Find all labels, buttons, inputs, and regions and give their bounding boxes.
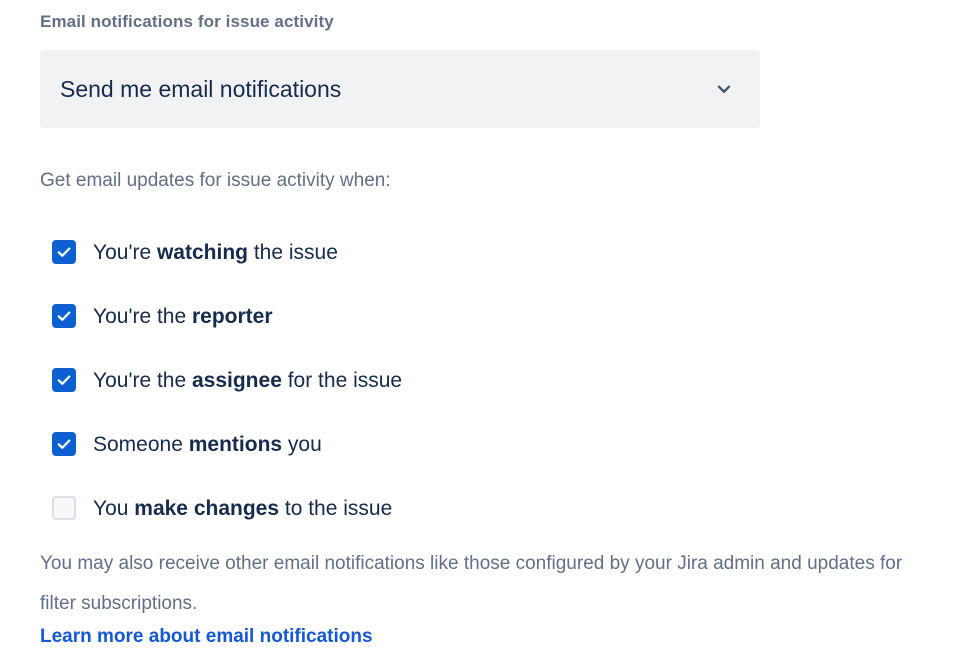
checkbox-checked[interactable] <box>52 368 76 392</box>
notification-triggers-list: You're watching the issueYou're the repo… <box>40 220 920 540</box>
checkbox-checked[interactable] <box>52 240 76 264</box>
checkbox-label: You're the reporter <box>93 306 273 327</box>
check-icon <box>55 243 73 261</box>
checkbox-row[interactable]: You make changes to the issue <box>40 476 920 540</box>
email-notifications-settings-panel: Email notifications for issue activity S… <box>0 0 964 658</box>
check-icon <box>55 371 73 389</box>
checkbox-row[interactable]: You're watching the issue <box>40 220 920 284</box>
checkbox-label-prefix: You're the <box>93 305 192 328</box>
checkbox-label-prefix: Someone <box>93 433 189 456</box>
email-notifications-select[interactable]: Send me email notifications <box>40 50 760 128</box>
checkbox-label: You're the assignee for the issue <box>93 370 402 391</box>
chevron-down-icon[interactable] <box>712 77 736 101</box>
checkbox-row[interactable]: You're the reporter <box>40 284 920 348</box>
page-title: Email notifications for issue activity <box>40 12 334 32</box>
helper-text: Get email updates for issue activity whe… <box>40 170 391 192</box>
checkbox-row[interactable]: You're the assignee for the issue <box>40 348 920 412</box>
footer-note: You may also receive other email notific… <box>40 544 942 624</box>
checkbox-label-suffix: for the issue <box>282 369 402 392</box>
checkbox-label: Someone mentions you <box>93 434 322 455</box>
checkbox-label-emphasis: mentions <box>189 433 282 456</box>
checkbox-label-suffix: you <box>282 433 322 456</box>
checkbox-label-emphasis: reporter <box>192 305 273 328</box>
checkbox-label-suffix: the issue <box>248 241 338 264</box>
checkbox-unchecked[interactable] <box>52 496 76 520</box>
checkbox-label-prefix: You're the <box>93 369 192 392</box>
checkbox-row[interactable]: Someone mentions you <box>40 412 920 476</box>
checkbox-checked[interactable] <box>52 304 76 328</box>
checkbox-label-emphasis: assignee <box>192 369 282 392</box>
checkbox-label-suffix: to the issue <box>279 497 392 520</box>
checkbox-label: You're watching the issue <box>93 242 338 263</box>
learn-more-link[interactable]: Learn more about email notifications <box>40 626 373 648</box>
checkbox-label-prefix: You're <box>93 241 157 264</box>
checkbox-label-prefix: You <box>93 497 134 520</box>
check-icon <box>55 435 73 453</box>
checkbox-checked[interactable] <box>52 432 76 456</box>
email-notifications-select-value: Send me email notifications <box>60 76 341 103</box>
checkbox-label-emphasis: watching <box>157 241 248 264</box>
checkbox-label: You make changes to the issue <box>93 498 392 519</box>
checkbox-label-emphasis: make changes <box>134 497 279 520</box>
check-icon <box>55 307 73 325</box>
